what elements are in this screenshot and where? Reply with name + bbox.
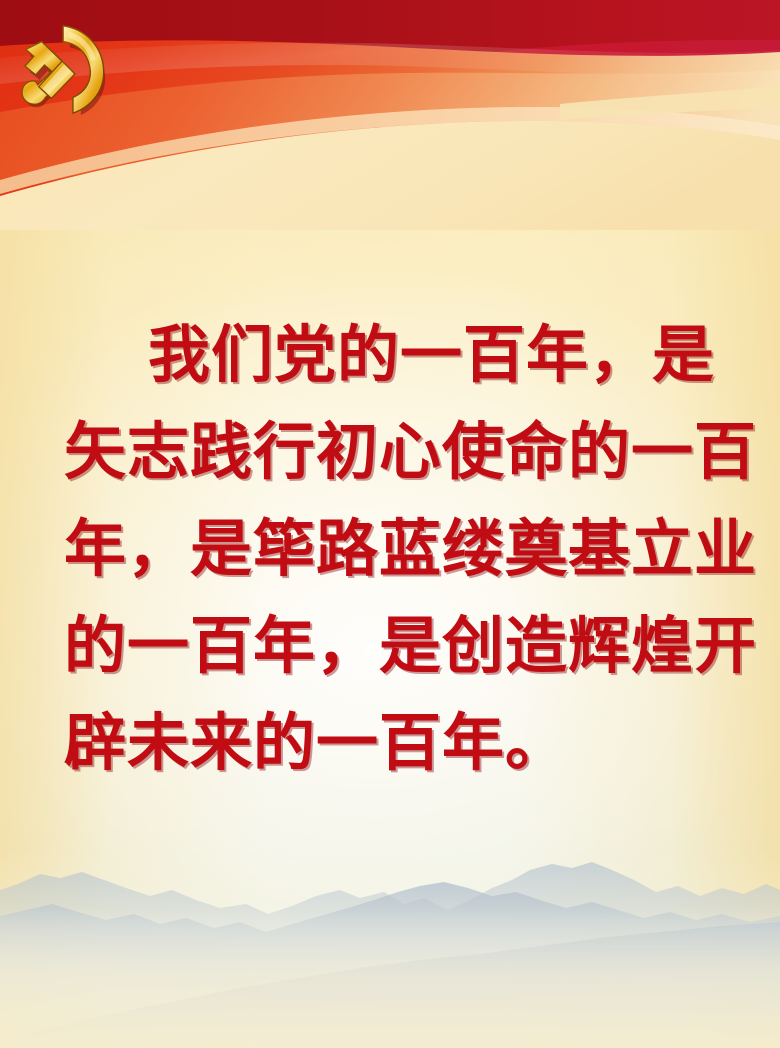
misty-mountain-range <box>0 788 780 1048</box>
quote-line-4: 的一百年，是创造辉煌开 <box>64 597 716 694</box>
quote-line-1: 我们党的一百年，是 <box>64 306 716 403</box>
top-red-banner <box>0 0 780 230</box>
quote-line-3: 年，是筚路蓝缕奠基立业 <box>64 500 716 597</box>
mountain-svg <box>0 788 780 1048</box>
quote-line-5: 辟未来的一百年。 <box>64 694 716 791</box>
mountain-haze <box>0 908 780 1048</box>
poster-canvas: 我们党的一百年，是 矢志践行初心使命的一百 年，是筚路蓝缕奠基立业 的一百年，是… <box>0 0 780 1048</box>
quote-line-2: 矢志践行初心使命的一百 <box>64 403 716 500</box>
quote-block: 我们党的一百年，是 矢志践行初心使命的一百 年，是筚路蓝缕奠基立业 的一百年，是… <box>0 306 780 791</box>
banner-svg <box>0 0 780 230</box>
